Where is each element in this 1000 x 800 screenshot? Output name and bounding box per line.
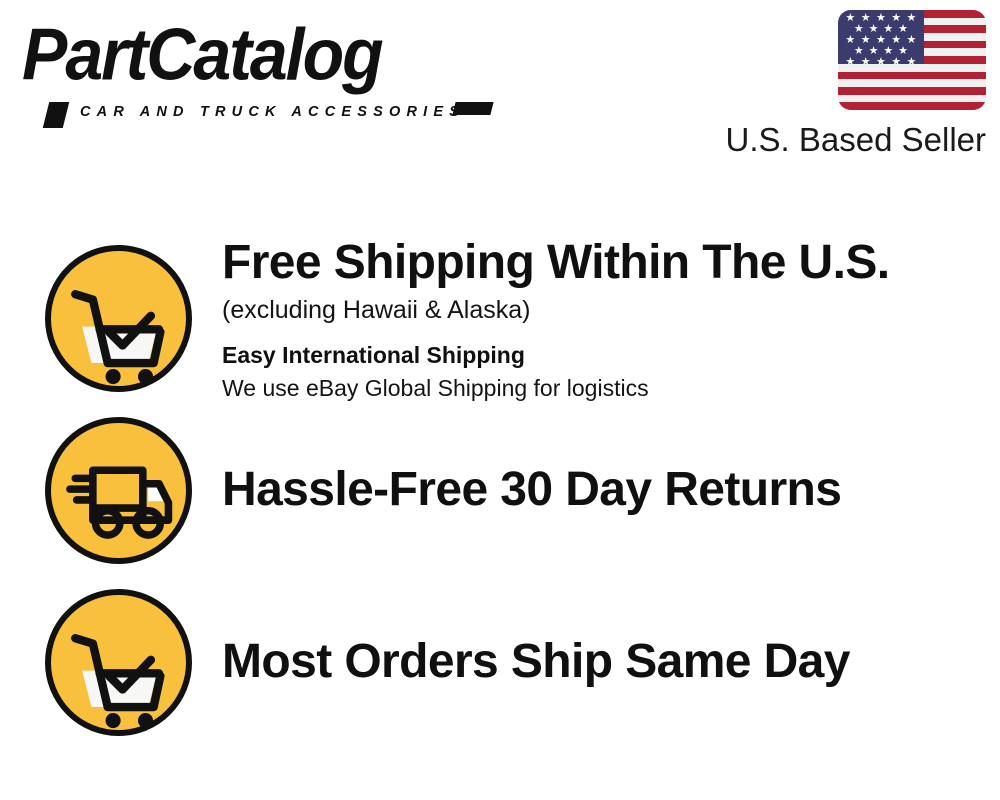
flag-stars: ★★★★★ ★★★★ ★★★★★ ★★★★ ★★★★★ — [838, 10, 924, 64]
feature-row-returns: Hassle-Free 30 Day Returns — [0, 404, 1000, 576]
us-flag-icon: ★★★★★ ★★★★ ★★★★★ ★★★★ ★★★★★ — [838, 10, 986, 110]
feature-icon-wrapper — [0, 232, 192, 404]
brand-tagline: CAR AND TRUCK ACCESSORIES — [80, 104, 465, 120]
feature-text-block: Hassle-Free 30 Day Returns — [192, 463, 1000, 517]
brand-wordmark: PartCatalog — [22, 18, 382, 91]
feature-title: Most Orders Ship Same Day — [222, 635, 1000, 689]
feature-title: Free Shipping Within The U.S. — [222, 236, 1000, 290]
shopping-cart-check-icon — [45, 245, 192, 392]
feature-text-block: Most Orders Ship Same Day — [192, 635, 1000, 689]
feature-text-block: Free Shipping Within The U.S. (excluding… — [192, 232, 1000, 404]
feature-row-same-day-shipping: Most Orders Ship Same Day — [0, 576, 1000, 748]
feature-secondary-subtitle: We use eBay Global Shipping for logistic… — [222, 374, 1000, 404]
shipping-info-banner: PartCatalog CAR AND TRUCK ACCESSORIES ★★… — [0, 0, 1000, 800]
logo-accent-stroke-left — [43, 102, 69, 128]
feature-icon-wrapper — [0, 576, 192, 748]
us-based-seller-label: U.S. Based Seller — [686, 121, 986, 159]
us-based-seller-badge: ★★★★★ ★★★★ ★★★★★ ★★★★ ★★★★★ U.S. Based S… — [686, 10, 986, 159]
feature-icon-wrapper — [0, 404, 192, 576]
delivery-truck-icon — [45, 417, 192, 564]
feature-title: Hassle-Free 30 Day Returns — [222, 463, 1000, 517]
feature-subtitle: (excluding Hawaii & Alaska) — [222, 294, 1000, 328]
feature-secondary-title: Easy International Shipping — [222, 341, 1000, 371]
shopping-cart-check-icon — [45, 589, 192, 736]
feature-list: Free Shipping Within The U.S. (excluding… — [0, 232, 1000, 748]
brand-logo[interactable]: PartCatalog CAR AND TRUCK ACCESSORIES — [22, 18, 492, 118]
feature-row-free-shipping: Free Shipping Within The U.S. (excluding… — [0, 232, 1000, 404]
